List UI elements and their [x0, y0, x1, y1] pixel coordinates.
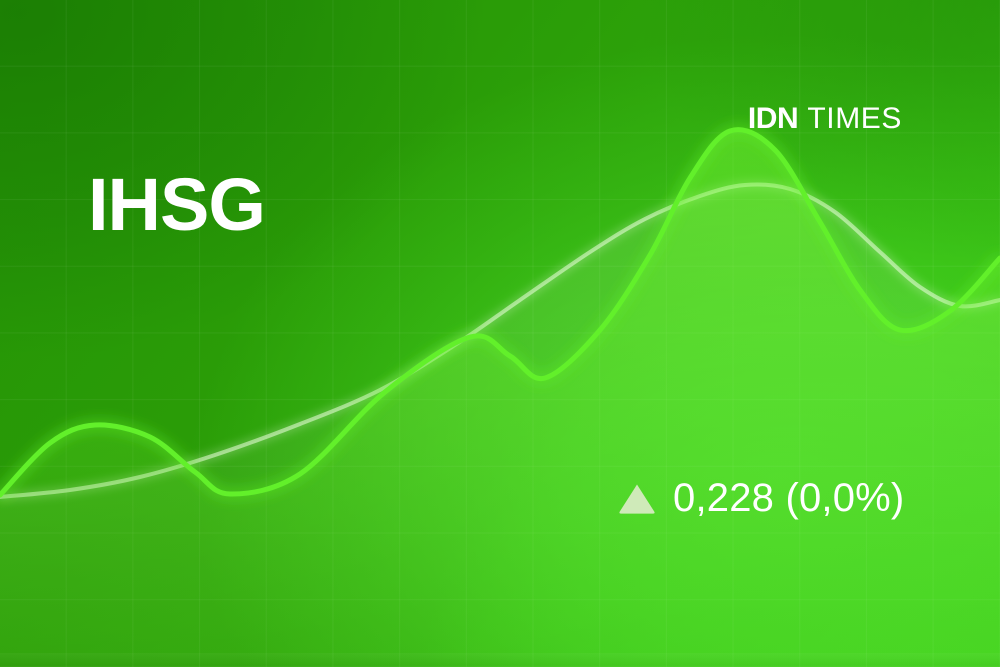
quote-change-row: 0,228 (0,0%)	[617, 478, 904, 518]
page-title: IHSG	[88, 168, 265, 242]
brand-logo: IDNTIMES	[748, 104, 902, 134]
brand-logo-idn: IDN	[748, 102, 798, 135]
quote-change-value: 0,228 (0,0%)	[673, 478, 904, 518]
quote-change-percent: (0,0%)	[785, 476, 904, 520]
quote-change-absolute: 0,228	[673, 476, 774, 520]
triangle-up-icon	[617, 481, 657, 515]
bottom-edge-band	[0, 653, 1000, 667]
brand-logo-times: TIMES	[807, 102, 902, 135]
index-chart	[0, 0, 1000, 667]
stock-index-card: IHSG IDNTIMES 0,228 (0,0%)	[0, 0, 1000, 667]
